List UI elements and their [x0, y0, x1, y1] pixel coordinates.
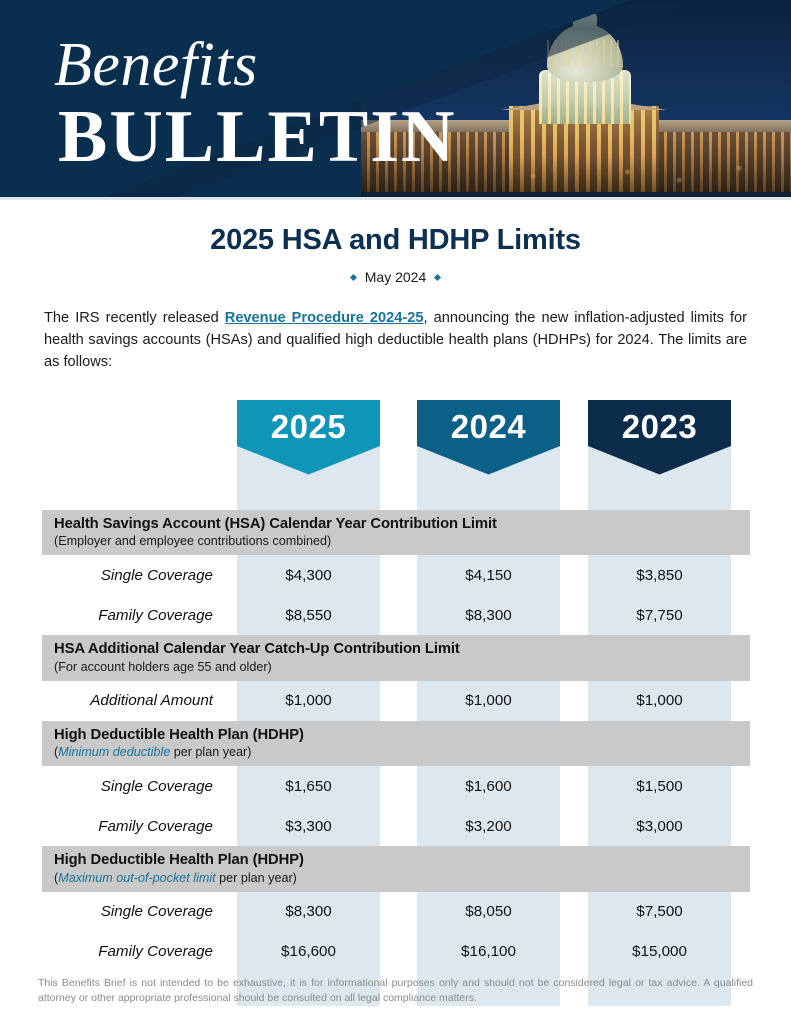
limits-table: 2025 2024 2023 Health Savings Account (H… [0, 400, 791, 1006]
section-subtitle: (For account holders age 55 and older) [54, 660, 750, 675]
row-value-2025: $4,300 [237, 567, 380, 584]
intro-paragraph: The IRS recently released Revenue Proced… [44, 307, 747, 374]
section-subtitle: (Employer and employee contributions com… [54, 534, 750, 549]
row-value-2023: $7,500 [588, 903, 731, 920]
row-label: Additional Amount [0, 692, 237, 709]
row-value-2024: $16,100 [417, 943, 560, 960]
row-value-2025: $8,550 [237, 607, 380, 624]
row-value-2024: $3,200 [417, 818, 560, 835]
row-value-2025: $16,600 [237, 943, 380, 960]
row-value-2023: $1,500 [588, 778, 731, 795]
year-label-2025: 2025 [271, 408, 346, 446]
year-label-2024: 2024 [451, 408, 526, 446]
table-row: Family Coverage$3,300$3,200$3,000 [0, 806, 791, 846]
row-value-2024: $8,300 [417, 607, 560, 624]
diamond-bullet-left-icon [350, 274, 357, 281]
section-header: High Deductible Health Plan (HDHP)(Maxim… [42, 846, 750, 892]
publication-date: May 2024 [365, 269, 426, 285]
row-label: Single Coverage [0, 778, 237, 795]
page-title: 2025 HSA and HDHP Limits [0, 224, 791, 257]
banner-word-benefits: Benefits [54, 34, 456, 96]
table-row: Additional Amount$1,000$1,000$1,000 [0, 681, 791, 721]
row-value-2023: $15,000 [588, 943, 731, 960]
section-subtitle-emphasis: Maximum out-of-pocket limit [58, 871, 215, 885]
row-label: Single Coverage [0, 567, 237, 584]
section-title: High Deductible Health Plan (HDHP) [54, 852, 750, 869]
table-row: Single Coverage$4,300$4,150$3,850 [0, 555, 791, 595]
section-title: HSA Additional Calendar Year Catch-Up Co… [54, 641, 750, 658]
diamond-bullet-right-icon [434, 274, 441, 281]
row-value-2024: $1,600 [417, 778, 560, 795]
section-subtitle: (Minimum deductible per plan year) [54, 745, 750, 760]
row-value-2025: $3,300 [237, 818, 380, 835]
row-label: Family Coverage [0, 607, 237, 624]
table-rows-host: Health Savings Account (HSA) Calendar Ye… [0, 510, 791, 972]
row-value-2023: $1,000 [588, 692, 731, 709]
row-value-2025: $1,000 [237, 692, 380, 709]
benefits-bulletin-page: Benefits BULLETIN 2025 HSA and HDHP Limi… [0, 0, 791, 1024]
table-row: Family Coverage$8,550$8,300$7,750 [0, 595, 791, 635]
row-label: Family Coverage [0, 818, 237, 835]
row-value-2024: $8,050 [417, 903, 560, 920]
row-value-2024: $4,150 [417, 567, 560, 584]
header-banner: Benefits BULLETIN [0, 0, 791, 200]
publication-date-row: May 2024 [0, 269, 791, 285]
section-subtitle-emphasis: Minimum deductible [58, 745, 170, 759]
intro-text-before-link: The IRS recently released [44, 310, 225, 326]
row-value-2023: $3,000 [588, 818, 731, 835]
banner-word-bulletin: BULLETIN [58, 100, 456, 174]
row-value-2025: $1,650 [237, 778, 380, 795]
revenue-procedure-link[interactable]: Revenue Procedure 2024-25 [225, 310, 424, 326]
banner-underline [0, 197, 791, 200]
row-label: Family Coverage [0, 943, 237, 960]
table-row: Single Coverage$8,300$8,050$7,500 [0, 892, 791, 932]
section-subtitle-suffix: per plan year) [170, 745, 251, 759]
year-label-2023: 2023 [622, 408, 697, 446]
banner-title: Benefits BULLETIN [54, 34, 456, 174]
table-row: Single Coverage$1,650$1,600$1,500 [0, 766, 791, 806]
section-header: High Deductible Health Plan (HDHP)(Minim… [42, 721, 750, 767]
section-title: Health Savings Account (HSA) Calendar Ye… [54, 516, 750, 533]
row-value-2023: $3,850 [588, 567, 731, 584]
row-value-2024: $1,000 [417, 692, 560, 709]
row-value-2023: $7,750 [588, 607, 731, 624]
section-subtitle-suffix: per plan year) [216, 871, 297, 885]
section-header: HSA Additional Calendar Year Catch-Up Co… [42, 635, 750, 681]
section-title: High Deductible Health Plan (HDHP) [54, 727, 750, 744]
row-label: Single Coverage [0, 903, 237, 920]
table-row: Family Coverage$16,600$16,100$15,000 [0, 932, 791, 972]
footer-disclaimer: This Benefits Brief is not intended to b… [38, 976, 753, 1006]
row-value-2025: $8,300 [237, 903, 380, 920]
section-header: Health Savings Account (HSA) Calendar Ye… [42, 510, 750, 556]
section-subtitle: (Maximum out-of-pocket limit per plan ye… [54, 871, 750, 886]
